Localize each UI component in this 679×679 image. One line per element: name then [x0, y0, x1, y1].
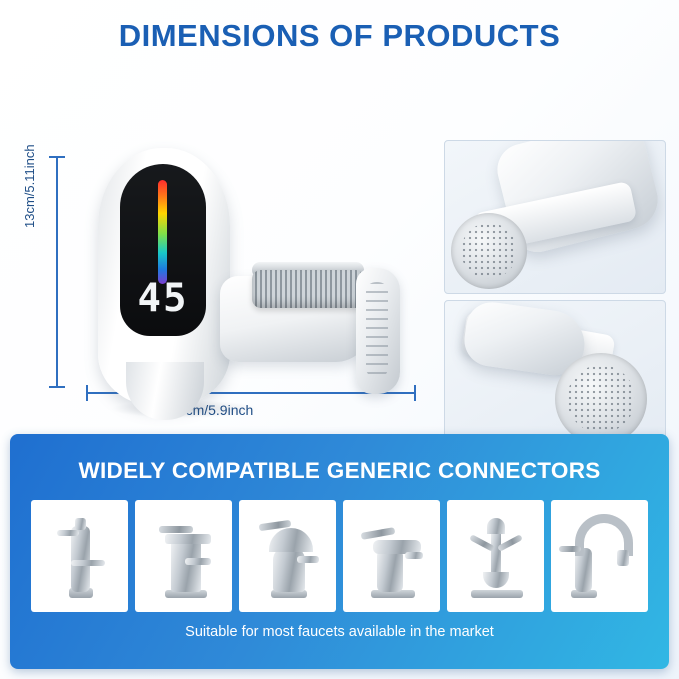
banner-caption: Suitable for most faucets available in t… [10, 624, 669, 640]
product-infographic: DIMENSIONS OF PRODUCTS 13cm/5.11inch 15c… [0, 0, 679, 679]
temperature-color-bar [158, 180, 167, 284]
faucet-square-lever [135, 500, 232, 612]
banner-title: WIDELY COMPATIBLE GENERIC CONNECTORS [10, 458, 669, 484]
faucet-three-handle-bridge [447, 500, 544, 612]
product-image: 45 [80, 148, 430, 418]
compatibility-banner: WIDELY COMPATIBLE GENERIC CONNECTORS [10, 434, 669, 669]
faucet-thumbnail-row [31, 500, 648, 612]
faucet-curved-lever [239, 500, 336, 612]
detail-panel-bottom [444, 300, 666, 454]
height-measure-label: 13cm/5.11inch [22, 144, 37, 228]
page-title: DIMENSIONS OF PRODUCTS [0, 18, 679, 54]
height-measure-line [56, 156, 58, 388]
detail-spray-holes [461, 223, 517, 279]
chrome-knurled-ring [252, 270, 364, 308]
faucet-single-lever-tall [31, 500, 128, 612]
dimensions-section: 13cm/5.11inch 15cm/5.9inch 45 [0, 68, 679, 428]
led-display-screen: 45 [120, 164, 206, 336]
faucet-gooseneck-kitchen [551, 500, 648, 612]
faucet-angled-lever [343, 500, 440, 612]
nozzle-vents [366, 282, 388, 378]
detail-panel-top [444, 140, 666, 294]
detail-spray-holes-2 [567, 365, 635, 433]
temperature-readout: 45 [120, 276, 206, 321]
